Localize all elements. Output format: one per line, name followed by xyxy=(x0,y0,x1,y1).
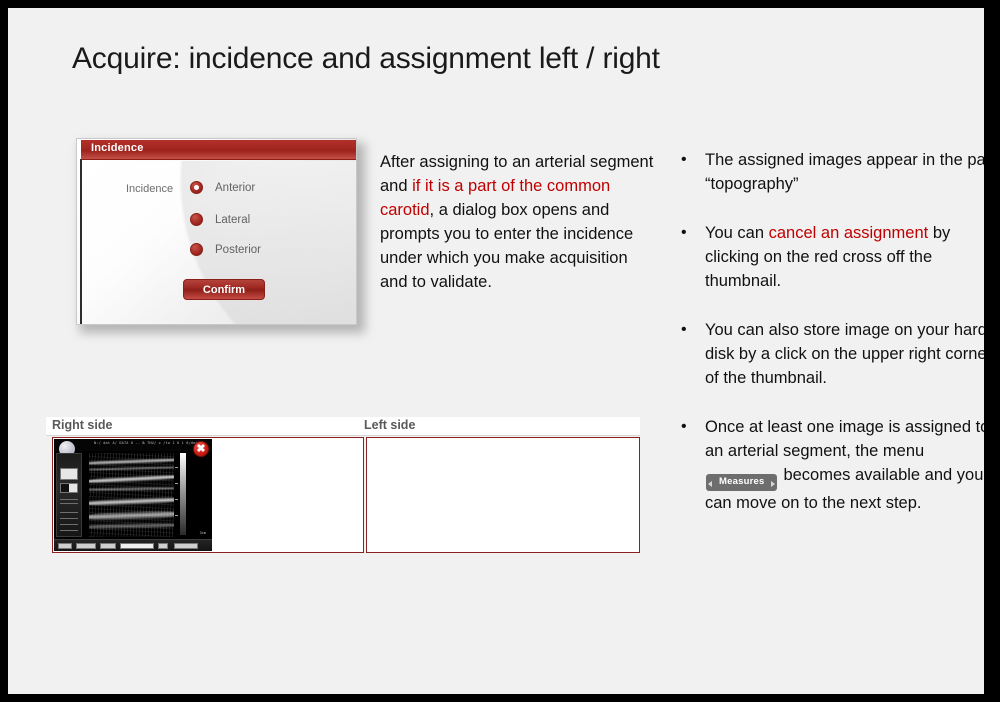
bullet-marker-icon: • xyxy=(681,318,687,342)
radio-label: Lateral xyxy=(215,214,250,226)
list-item: •Once at least one image is assigned to … xyxy=(678,415,984,515)
radio-dot-icon[interactable] xyxy=(190,213,203,226)
ultrasound-toolbar-button xyxy=(120,543,154,549)
ultrasound-bottombar xyxy=(54,539,212,551)
ultrasound-slider xyxy=(60,518,78,519)
confirm-button-label: Confirm xyxy=(203,284,245,296)
ultrasound-toolbar-button xyxy=(58,543,72,549)
bullet-text-pre: You can xyxy=(705,224,769,242)
ultrasound-toolbar-button xyxy=(100,543,116,549)
dialog-title-text: Incidence xyxy=(91,142,144,154)
ultrasound-depth-tick xyxy=(175,515,178,516)
dialog-window: Incidence Incidence Anterior Lateral Pos… xyxy=(76,138,357,325)
slide-frame: Acquire: incidence and assignment left /… xyxy=(0,0,1000,702)
close-icon[interactable]: ✖ xyxy=(193,441,209,457)
page-title: Acquire: incidence and assignment left /… xyxy=(72,42,660,76)
left-side-cell[interactable] xyxy=(366,437,640,553)
list-item: •You can cancel an assignment by clickin… xyxy=(678,221,984,293)
radio-option-anterior[interactable]: Anterior xyxy=(190,181,255,194)
radio-option-lateral[interactable]: Lateral xyxy=(190,213,250,226)
slide-canvas: Acquire: incidence and assignment left /… xyxy=(8,8,984,694)
ultrasound-sidebar xyxy=(56,453,82,537)
radio-dot-icon[interactable] xyxy=(190,181,203,194)
incidence-field-label: Incidence xyxy=(126,183,173,195)
bullet-highlight: cancel an assignment xyxy=(769,224,929,242)
radio-dot-icon[interactable] xyxy=(190,243,203,256)
topography-header: Right side Left side xyxy=(46,417,640,436)
ultrasound-toolbar-button xyxy=(158,543,168,549)
ultrasound-slider xyxy=(60,499,78,500)
dialog-titlebar: Incidence xyxy=(81,140,357,160)
incidence-dialog: Incidence Incidence Anterior Lateral Pos… xyxy=(76,138,361,328)
right-side-header: Right side xyxy=(52,418,112,432)
ultrasound-speckle-texture xyxy=(89,453,174,537)
ultrasound-depth-gradient-bar xyxy=(180,453,186,535)
bullet-list: •The assigned images appear in the part … xyxy=(678,148,984,540)
radio-label: Posterior xyxy=(215,244,261,256)
left-side-header: Left side xyxy=(364,418,415,432)
ultrasound-depth-tick xyxy=(175,467,178,468)
ultrasound-depth-tick xyxy=(175,483,178,484)
ultrasound-toolbar-button xyxy=(76,543,96,549)
ultrasound-contrast-box xyxy=(60,483,78,493)
ultrasound-slider xyxy=(60,530,78,531)
dialog-left-rail xyxy=(80,159,82,325)
ultrasound-depth-tick xyxy=(175,499,178,500)
measures-menu-chip[interactable]: Measures xyxy=(706,474,777,491)
close-glyph: ✖ xyxy=(196,444,205,455)
right-side-cell[interactable]: N:/ dat A/ DATA 0 .. № THU/ x /to 1 0 1 … xyxy=(52,437,364,553)
ultrasound-scan-area xyxy=(89,453,174,537)
topography-cells: N:/ dat A/ DATA 0 .. № THU/ x /to 1 0 1 … xyxy=(52,437,640,553)
bullet-marker-icon: • xyxy=(681,415,687,439)
bullet-text-pre: Once at least one image is assigned to a… xyxy=(705,418,984,460)
confirm-button[interactable]: Confirm xyxy=(183,279,265,300)
bullet-marker-icon: • xyxy=(681,221,687,245)
ultrasound-thumbnail[interactable]: N:/ dat A/ DATA 0 .. № THU/ x /to 1 0 1 … xyxy=(54,439,212,551)
ultrasound-slider xyxy=(60,524,78,525)
ultrasound-preset-box xyxy=(60,468,78,480)
middle-paragraph: After assigning to an arterial segment a… xyxy=(380,150,656,294)
ultrasound-depth-label: 3cm xyxy=(200,531,206,535)
topography-panel: Right side Left side N:/ dat A/ DATA 0 .… xyxy=(46,417,640,553)
ultrasound-topbar-text: N:/ dat A/ DATA 0 .. № THU/ x /to 1 0 1 … xyxy=(94,441,202,445)
list-item: •The assigned images appear in the part … xyxy=(678,148,984,196)
list-item: •You can also store image on your hard d… xyxy=(678,318,984,390)
bullet-text: The assigned images appear in the part “… xyxy=(705,151,984,193)
radio-option-posterior[interactable]: Posterior xyxy=(190,243,261,256)
ultrasound-slider xyxy=(60,512,78,513)
ultrasound-topbar: N:/ dat A/ DATA 0 .. № THU/ x /to 1 0 1 … xyxy=(54,439,212,451)
ultrasound-slider xyxy=(60,503,78,504)
bullet-marker-icon: • xyxy=(681,148,687,172)
bullet-text: You can also store image on your hard di… xyxy=(705,321,984,387)
ultrasound-toolbar-button xyxy=(174,543,198,549)
radio-label: Anterior xyxy=(215,182,255,194)
